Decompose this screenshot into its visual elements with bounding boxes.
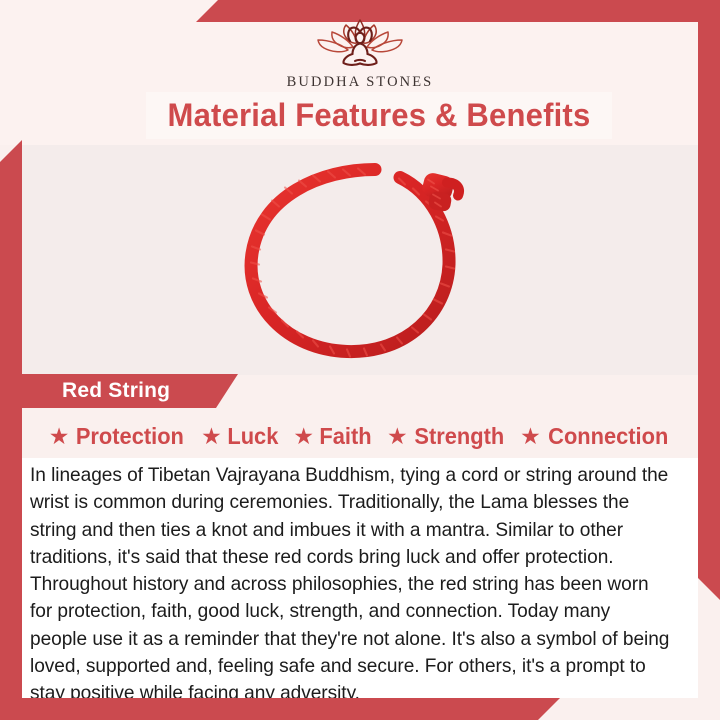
feature-label: Protection: [76, 423, 184, 450]
star-icon: ★: [387, 425, 408, 448]
red-braided-string-bracelet-icon: [225, 153, 495, 368]
feature-item-luck: ★ Luck: [201, 423, 279, 450]
brand-wordmark: BUDDHA STONES: [287, 74, 434, 91]
page-title: Material Features & Benefits: [168, 97, 591, 134]
feature-item-strength: ★ Strength: [387, 423, 506, 450]
star-icon: ★: [201, 425, 222, 448]
feature-list: ★ Protection ★ Luck ★ Faith ★ Strength ★…: [22, 414, 698, 458]
feature-item-protection: ★ Protection: [49, 423, 187, 450]
feature-item-connection: ★ Connection: [520, 423, 671, 450]
feature-label: Connection: [548, 423, 668, 450]
star-icon: ★: [49, 425, 70, 448]
feature-label: Faith: [319, 423, 371, 450]
decorative-band-left: [0, 140, 22, 720]
product-label: Red String: [62, 379, 170, 403]
product-label-banner: Red String: [0, 374, 238, 408]
title-banner: Material Features & Benefits: [146, 92, 612, 139]
brand-logo: BUDDHA STONES: [0, 16, 720, 96]
product-image-stage: [22, 145, 698, 375]
infographic-page: BUDDHA STONES Material Features & Benefi…: [0, 0, 720, 720]
feature-item-faith: ★ Faith: [293, 423, 373, 450]
feature-label: Luck: [227, 423, 278, 450]
description-paragraph: In lineages of Tibetan Vajrayana Buddhis…: [30, 462, 670, 708]
decorative-band-bottom: [0, 698, 560, 720]
description-panel: In lineages of Tibetan Vajrayana Buddhis…: [22, 458, 698, 698]
star-icon: ★: [520, 425, 541, 448]
star-icon: ★: [293, 425, 314, 448]
feature-label: Strength: [414, 423, 504, 450]
lotus-meditation-icon: [308, 16, 412, 70]
